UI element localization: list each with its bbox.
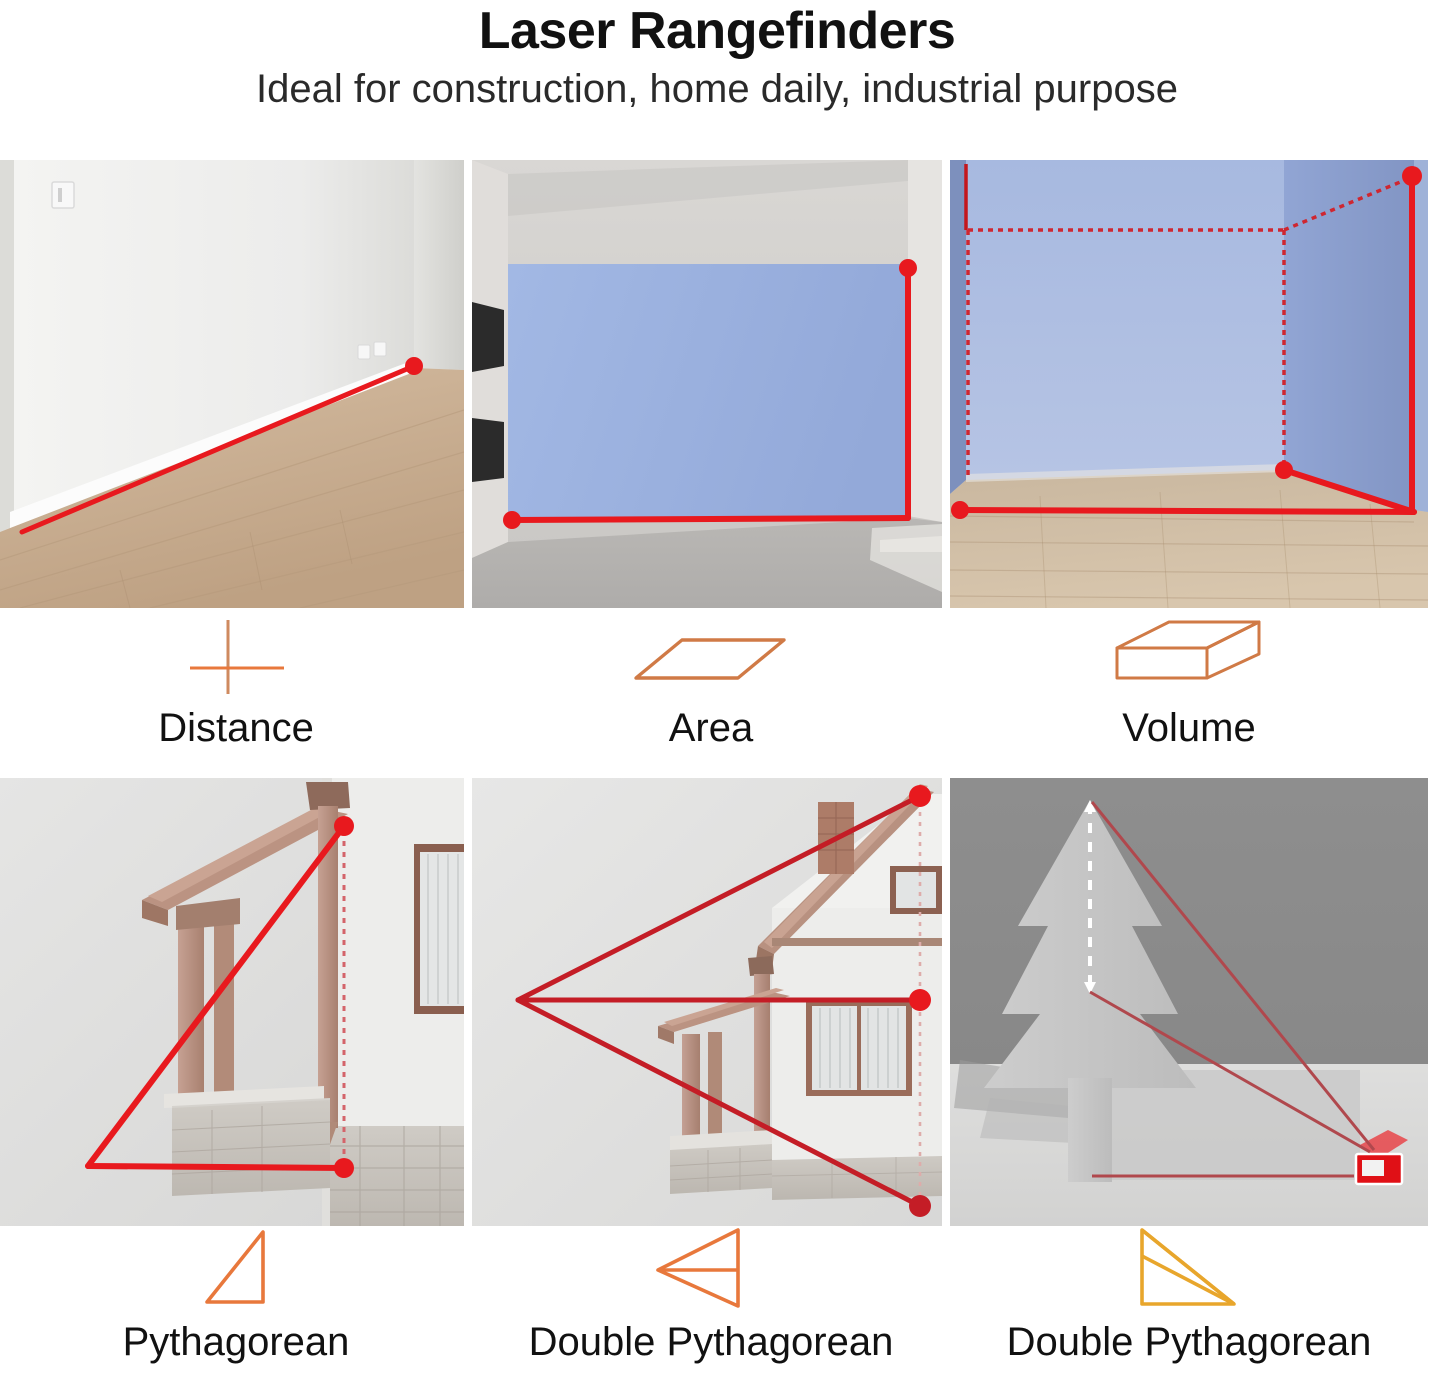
photo-cell-double-pythagorean-tree (950, 778, 1428, 1226)
mode-pythagorean[interactable]: Pythagorean (0, 1228, 472, 1393)
mode-icon-row-bottom: Pythagorean Double Pythagorean (0, 1228, 1434, 1393)
mode-label-double-pythagorean-1: Double Pythagorean (529, 1320, 894, 1364)
mode-distance[interactable]: Distance (0, 616, 472, 778)
laser-line-width (512, 518, 908, 520)
laser-dot-corner (1275, 461, 1293, 479)
infographic-page: Laser Rangefinders Ideal for constructio… (0, 0, 1434, 1393)
photo-distance-wall-floor (0, 160, 464, 608)
laser-corner-dot-top (899, 259, 917, 277)
laser-dot-top (334, 816, 354, 836)
volume-scene-svg (950, 160, 1428, 608)
area-scene-svg (472, 160, 942, 608)
photo-area-blue-wall (472, 160, 942, 608)
photo-volume-room (950, 160, 1428, 608)
right-triangle-icon (181, 1228, 291, 1314)
photo-row-top (0, 160, 1434, 608)
double-pythagorean-house-svg (472, 778, 942, 1226)
cross-lines-icon (176, 616, 296, 702)
photo-double-pythagorean-house (472, 778, 942, 1226)
cuboid-box-icon (1109, 616, 1269, 702)
mode-label-volume: Volume (1122, 706, 1255, 750)
mode-double-pythagorean-1[interactable]: Double Pythagorean (472, 1228, 950, 1393)
mode-label-pythagorean: Pythagorean (123, 1320, 350, 1364)
photo-cell-distance (0, 160, 472, 608)
photo-double-pythagorean-tree (950, 778, 1428, 1226)
laser-dot-ground (909, 1195, 931, 1217)
laser-dot-mid (909, 989, 931, 1011)
photo-cell-area (472, 160, 950, 608)
photo-cell-pythagorean (0, 778, 472, 1226)
mode-area[interactable]: Area (472, 616, 950, 778)
photo-row-bottom (0, 778, 1434, 1226)
laser-endpoint-dot (405, 357, 423, 375)
header: Laser Rangefinders Ideal for constructio… (0, 0, 1434, 114)
mode-double-pythagorean-2[interactable]: Double Pythagorean (950, 1228, 1428, 1393)
mode-label-area: Area (669, 706, 754, 750)
mode-label-double-pythagorean-2: Double Pythagorean (1007, 1320, 1372, 1364)
laser-dot-ceiling-right (1402, 166, 1422, 186)
laser-dot-bottom (334, 1158, 354, 1178)
wall-frame-upper (472, 302, 504, 372)
wall-frame-lower (472, 418, 504, 482)
double-triangle-icon (646, 1228, 776, 1314)
photo-cell-double-pythagorean-house (472, 778, 950, 1226)
parallelogram-icon (626, 616, 796, 702)
distance-scene-svg (0, 160, 464, 608)
page-title: Laser Rangefinders (0, 4, 1434, 58)
mode-icon-row-top: Distance Area Volume (0, 616, 1434, 778)
pythagorean-scene-svg (0, 778, 464, 1226)
photo-cell-volume (950, 160, 1428, 608)
page-subtitle: Ideal for construction, home daily, indu… (0, 64, 1434, 114)
double-triangle-gold-icon (1124, 1228, 1254, 1314)
mode-volume[interactable]: Volume (950, 616, 1428, 778)
mode-label-distance: Distance (158, 706, 314, 750)
laser-dot-floor-left (951, 501, 969, 519)
double-pythagorean-tree-svg (950, 778, 1428, 1226)
laser-corner-dot-bottom (503, 511, 521, 529)
laser-dot-roof-peak (909, 785, 931, 807)
photo-pythagorean-porch (0, 778, 464, 1226)
